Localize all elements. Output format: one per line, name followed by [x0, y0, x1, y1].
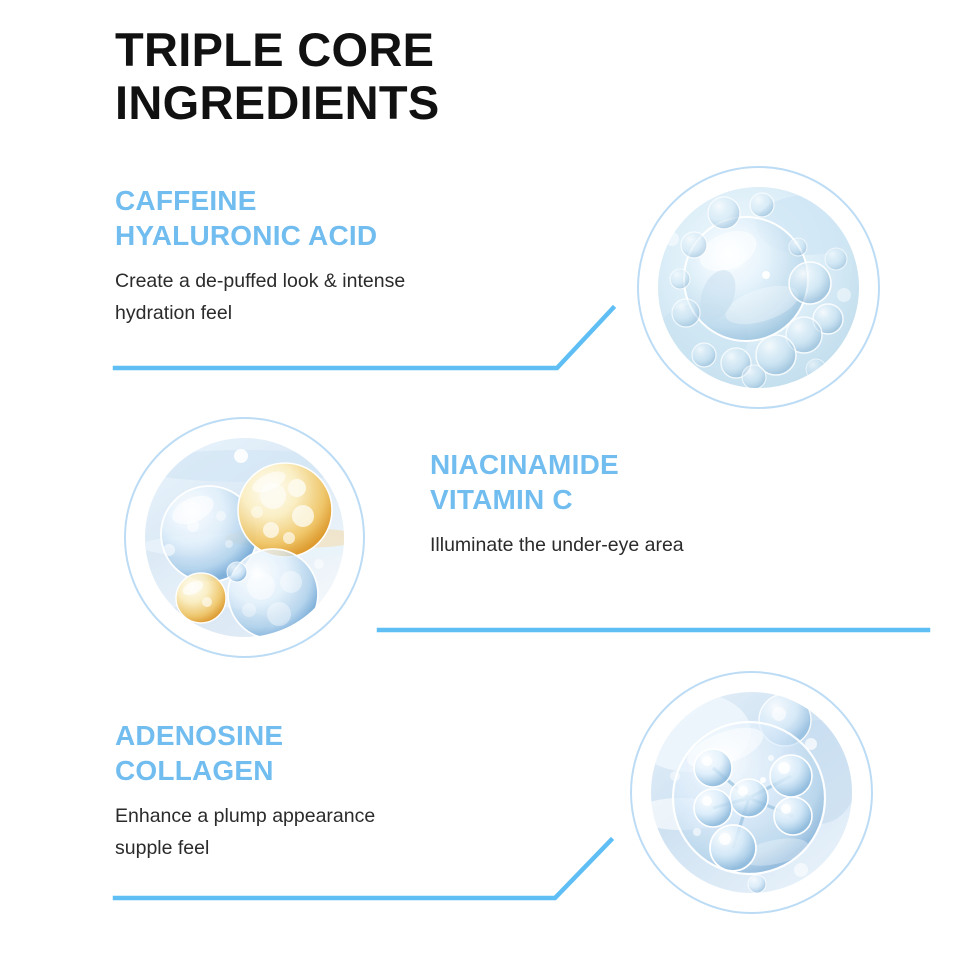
desc-line-1: Illuminate the under-eye area	[430, 530, 684, 562]
heading-line-1: CAFFEINE	[115, 183, 405, 218]
ingredient-block-niacinamide: NIACINAMIDE VITAMIN C Illuminate the und…	[430, 447, 684, 562]
infographic-page: TRIPLE CORE INGREDIENTS CAFFEINE HYALURO…	[0, 0, 960, 960]
page-title: TRIPLE CORE INGREDIENTS	[115, 24, 675, 129]
ingredient-heading-niacinamide: NIACINAMIDE VITAMIN C	[430, 447, 684, 517]
title-line-1: TRIPLE CORE	[115, 23, 434, 76]
heading-line-1: ADENOSINE	[115, 718, 375, 753]
ingredient-block-caffeine: CAFFEINE HYALURONIC ACID Create a de-puf…	[115, 183, 405, 329]
ingredient-heading-caffeine: CAFFEINE HYALURONIC ACID	[115, 183, 405, 253]
ingredient-heading-adenosine: ADENOSINE COLLAGEN	[115, 718, 375, 788]
desc-line-2: hydration feel	[115, 298, 405, 330]
ingredient-image-caffeine	[637, 166, 880, 409]
heading-line-2: VITAMIN C	[430, 482, 684, 517]
heading-line-1: NIACINAMIDE	[430, 447, 684, 482]
molecule-inside-bubble-macro-icon	[651, 692, 852, 893]
ingredient-image-adenosine	[630, 671, 873, 914]
heading-line-2: HYALURONIC ACID	[115, 218, 405, 253]
desc-line-2: supple feel	[115, 833, 375, 865]
ingredient-block-adenosine: ADENOSINE COLLAGEN Enhance a plump appea…	[115, 718, 375, 864]
heading-line-2: COLLAGEN	[115, 753, 375, 788]
ingredient-description-niacinamide: Illuminate the under-eye area	[430, 530, 684, 562]
blue-gel-bubbles-macro-icon	[658, 187, 859, 388]
gold-and-blue-spheres-macro-icon	[145, 438, 344, 637]
title-line-2: INGREDIENTS	[115, 77, 675, 130]
desc-line-1: Enhance a plump appearance	[115, 801, 375, 833]
desc-line-1: Create a de-puffed look & intense	[115, 266, 405, 298]
ingredient-description-adenosine: Enhance a plump appearance supple feel	[115, 801, 375, 864]
ingredient-description-caffeine: Create a de-puffed look & intense hydrat…	[115, 266, 405, 329]
ingredient-image-niacinamide	[124, 417, 365, 658]
